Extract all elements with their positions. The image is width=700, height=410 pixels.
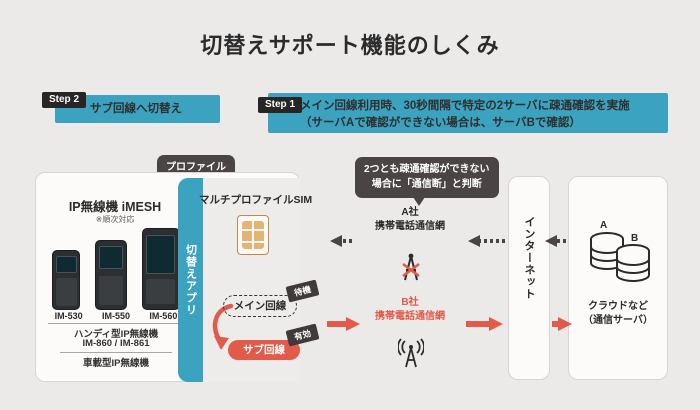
- device-model-0: IM-530: [55, 311, 83, 321]
- vehicle-caption: 車載型IP無線機: [45, 355, 187, 369]
- bubble-judge-line1: 2つとも疎通確認ができない: [364, 163, 490, 178]
- device-screen: [56, 256, 77, 273]
- switch-app-strip: 切替えアプリ: [178, 178, 203, 382]
- device-keypad: [56, 278, 77, 306]
- internet-label: インターネット: [521, 216, 537, 346]
- cell-tower-disabled-icon: [400, 252, 422, 282]
- carrier-a-label: A社 携帯電話通信網: [355, 206, 465, 233]
- device-model-2: IM-560: [149, 311, 177, 321]
- device-image-group: [45, 226, 187, 310]
- carrier-a-network: 携帯電話通信網: [355, 220, 465, 234]
- device-screen: [146, 235, 175, 274]
- device-model-row: IM-530 IM-550 IM-560: [45, 311, 187, 321]
- device-image-im560: [142, 228, 180, 310]
- device-image-im530: [52, 250, 80, 310]
- step2-text: サブ回線へ切替え: [90, 101, 182, 118]
- step1-line1: メイン回線利用時、30秒間隔で特定の2サーバに疎通確認を実施: [300, 98, 630, 115]
- arrow-dashed-a-to-sim: [330, 235, 352, 247]
- arrow-dashed-internet-to-a: [468, 235, 505, 247]
- carrier-b-label: B社 携帯電話通信網: [355, 296, 465, 323]
- sim-panel-title: マルチプロファイルSIM: [199, 192, 304, 207]
- diagram-canvas: 切替えサポート機能のしくみ Step 2 サブ回線へ切替え Step 1 メイン…: [0, 0, 700, 410]
- divider-vehicle: [60, 352, 172, 353]
- step1-line2: （サーバAで確認ができない場合は、サーバBで確認）: [300, 115, 630, 132]
- step2-badge: Step 2: [42, 92, 86, 108]
- cloud-caption-line2: （通信サーバ）: [570, 314, 666, 328]
- bubble-disconnect-judgement: 2つとも疎通確認ができない 場合に「通信断」と判断: [355, 157, 499, 198]
- cloud-caption: クラウドなど （通信サーバ）: [570, 300, 666, 328]
- device-panel-title: IP無線機 iMESH: [45, 196, 185, 215]
- device-keypad: [146, 279, 175, 305]
- device-panel-subtitle: ※順次対応: [45, 214, 185, 225]
- cell-tower-active-icon: [398, 338, 424, 368]
- page-title: 切替えサポート機能のしくみ: [0, 28, 700, 60]
- switch-app-label: 切替えアプリ: [183, 244, 199, 316]
- database-cylinder-icon: [585, 225, 655, 287]
- divider-handy: [48, 323, 184, 324]
- step1-badge: Step 1: [258, 97, 302, 113]
- carrier-b-company: B社: [355, 296, 465, 310]
- vehicle-models: IM-860 / IM-861: [45, 338, 187, 349]
- device-keypad: [99, 276, 123, 305]
- sim-contact-line: [252, 221, 254, 249]
- main-line-pill: メイン回線: [223, 295, 297, 317]
- step1-text: メイン回線利用時、30秒間隔で特定の2サーバに疎通確認を実施 （サーバAで確認が…: [300, 98, 630, 131]
- sim-card-icon: [237, 215, 269, 255]
- carrier-b-network: 携帯電話通信網: [355, 310, 465, 324]
- bubble-judge-line2: 場合に「通信断」と判断: [364, 178, 490, 193]
- device-screen: [99, 246, 123, 268]
- cloud-caption-line1: クラウドなど: [570, 300, 666, 314]
- device-image-im550: [95, 240, 127, 310]
- carrier-a-company: A社: [355, 206, 465, 220]
- arrow-red-b-to-internet: [466, 317, 503, 331]
- device-model-1: IM-550: [102, 311, 130, 321]
